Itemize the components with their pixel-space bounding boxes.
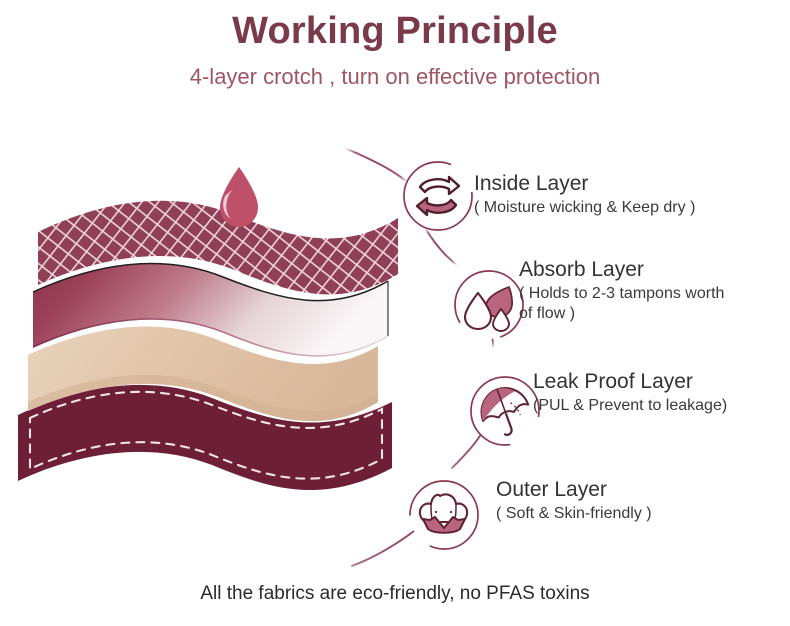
feature-title: Leak Proof Layer — [533, 370, 727, 394]
callout-circle-outer-layer[interactable] — [410, 481, 478, 549]
feature-label-absorb-layer: Absorb Layer ( Holds to 2-3 tampons wort… — [519, 258, 781, 323]
feature-title: Absorb Layer — [519, 258, 781, 282]
feature-title: Outer Layer — [496, 478, 652, 502]
feature-label-outer-layer: Outer Layer ( Soft & Skin-friendly ) — [496, 478, 652, 524]
feature-subtitle-line2: of flow ) — [519, 304, 781, 324]
callout-circle-leak-proof-layer[interactable] — [471, 377, 539, 445]
feature-title: Inside Layer — [474, 172, 695, 196]
callout-circle-absorb-layer[interactable] — [455, 271, 523, 339]
feature-subtitle: ( Holds to 2-3 tampons worth of flow ) — [519, 284, 781, 323]
infographic-canvas: Working Principle 4-layer crotch , turn … — [0, 0, 790, 626]
feature-subtitle: (PUL & Prevent to leakage) — [533, 396, 727, 416]
feature-label-leak-proof-layer: Leak Proof Layer (PUL & Prevent to leaka… — [533, 370, 727, 416]
callout-circle-inside-layer[interactable] — [404, 162, 472, 230]
feature-label-inside-layer: Inside Layer ( Moisture wicking & Keep d… — [474, 172, 695, 218]
eco-friendly-note: All the fabrics are eco-friendly, no PFA… — [0, 583, 790, 605]
feature-subtitle: ( Soft & Skin-friendly ) — [496, 504, 652, 524]
feature-subtitle: ( Moisture wicking & Keep dry ) — [474, 198, 695, 218]
feature-subtitle-line1: ( Holds to 2-3 tampons worth — [519, 284, 781, 304]
